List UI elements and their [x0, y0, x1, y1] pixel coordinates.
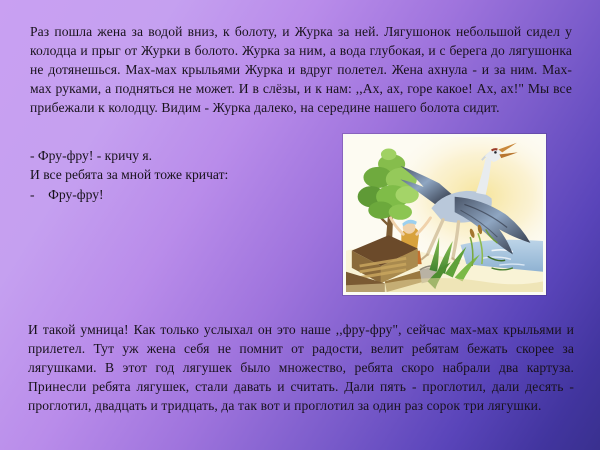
- dialogue-line-2: И все ребята за мной тоже кричат:: [30, 165, 330, 184]
- crane-illustration: [343, 134, 546, 295]
- presentation-slide: Раз пошла жена за водой вниз, к болоту, …: [0, 0, 600, 450]
- crane-illustration-artwork: [346, 137, 543, 292]
- dialogue-line-1: - Фру-фру! - кричу я.: [30, 146, 330, 165]
- dialogue-line-3: - Фру-фру!: [30, 185, 330, 204]
- story-paragraph-top: Раз пошла жена за водой вниз, к болоту, …: [30, 22, 572, 117]
- dialogue-block: - Фру-фру! - кричу я. И все ребята за мн…: [30, 146, 330, 204]
- story-paragraph-bottom: И такой умница! Как только услыхал он эт…: [28, 320, 574, 415]
